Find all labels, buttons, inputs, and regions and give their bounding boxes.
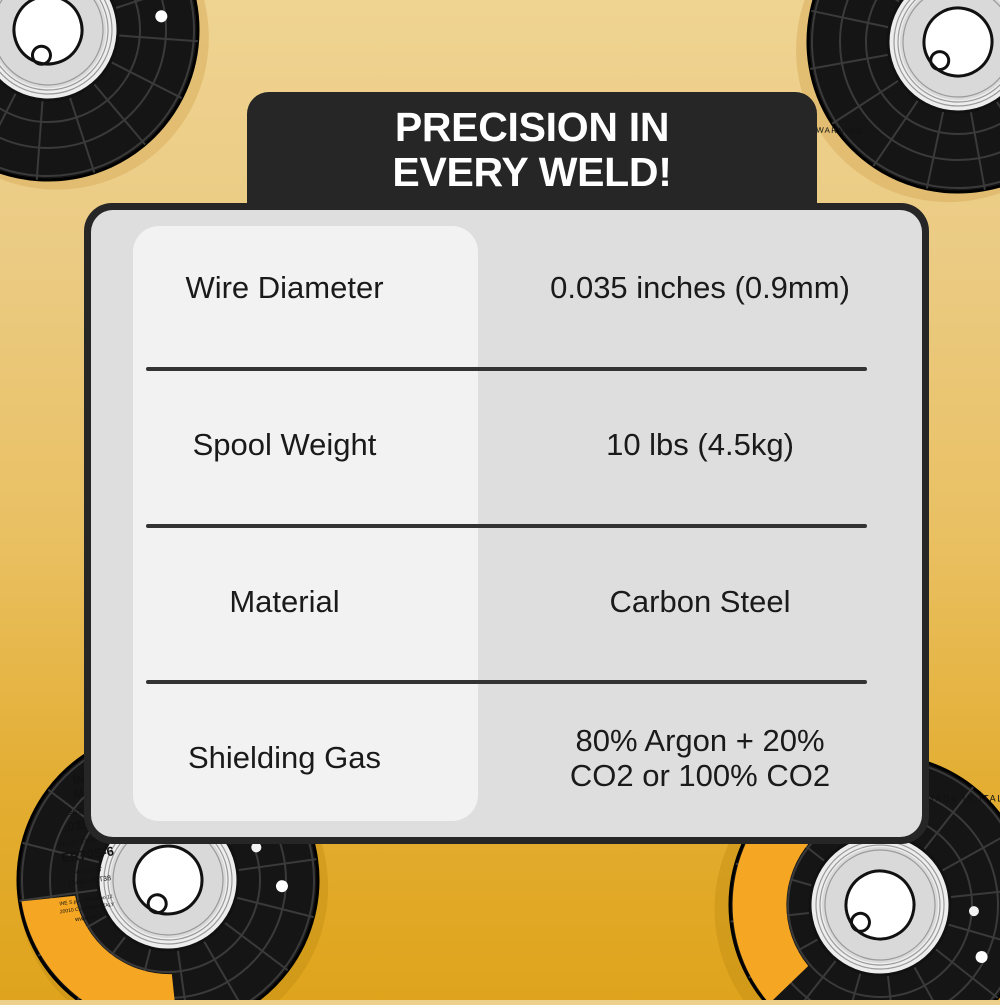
spec-table: Wire Diameter 0.035 inches (0.9mm) Spool… bbox=[91, 210, 922, 837]
table-row: Material Carbon Steel bbox=[91, 524, 922, 681]
spec-label: Spool Weight bbox=[91, 428, 478, 463]
spec-card-inner: Wire Diameter 0.035 inches (0.9mm) Spool… bbox=[91, 210, 922, 837]
header-banner: PRECISION IN EVERY WELD! bbox=[247, 92, 817, 210]
spec-label: Wire Diameter bbox=[91, 271, 478, 306]
page-title: PRECISION IN EVERY WELD! bbox=[392, 105, 671, 194]
table-row: Wire Diameter 0.035 inches (0.9mm) bbox=[91, 210, 922, 367]
spec-value: Carbon Steel bbox=[478, 585, 922, 620]
spec-card: Wire Diameter 0.035 inches (0.9mm) Spool… bbox=[84, 203, 929, 844]
spec-value: 0.035 inches (0.9mm) bbox=[478, 271, 922, 306]
table-row: Shielding Gas 80% Argon + 20% CO2 or 100… bbox=[91, 680, 922, 837]
spec-label: Material bbox=[91, 585, 478, 620]
svg-text:MADE IN ITALY: MADE IN ITALY bbox=[926, 794, 1000, 804]
svg-text:WARNING: WARNING bbox=[816, 125, 863, 136]
spec-value: 10 lbs (4.5kg) bbox=[478, 428, 922, 463]
spec-value: 80% Argon + 20% CO2 or 100% CO2 bbox=[478, 724, 922, 793]
spool-top-left: MADE IN ITALY bbox=[0, 0, 248, 230]
table-row: Spool Weight 10 lbs (4.5kg) bbox=[91, 367, 922, 524]
spec-label: Shielding Gas bbox=[91, 741, 478, 776]
